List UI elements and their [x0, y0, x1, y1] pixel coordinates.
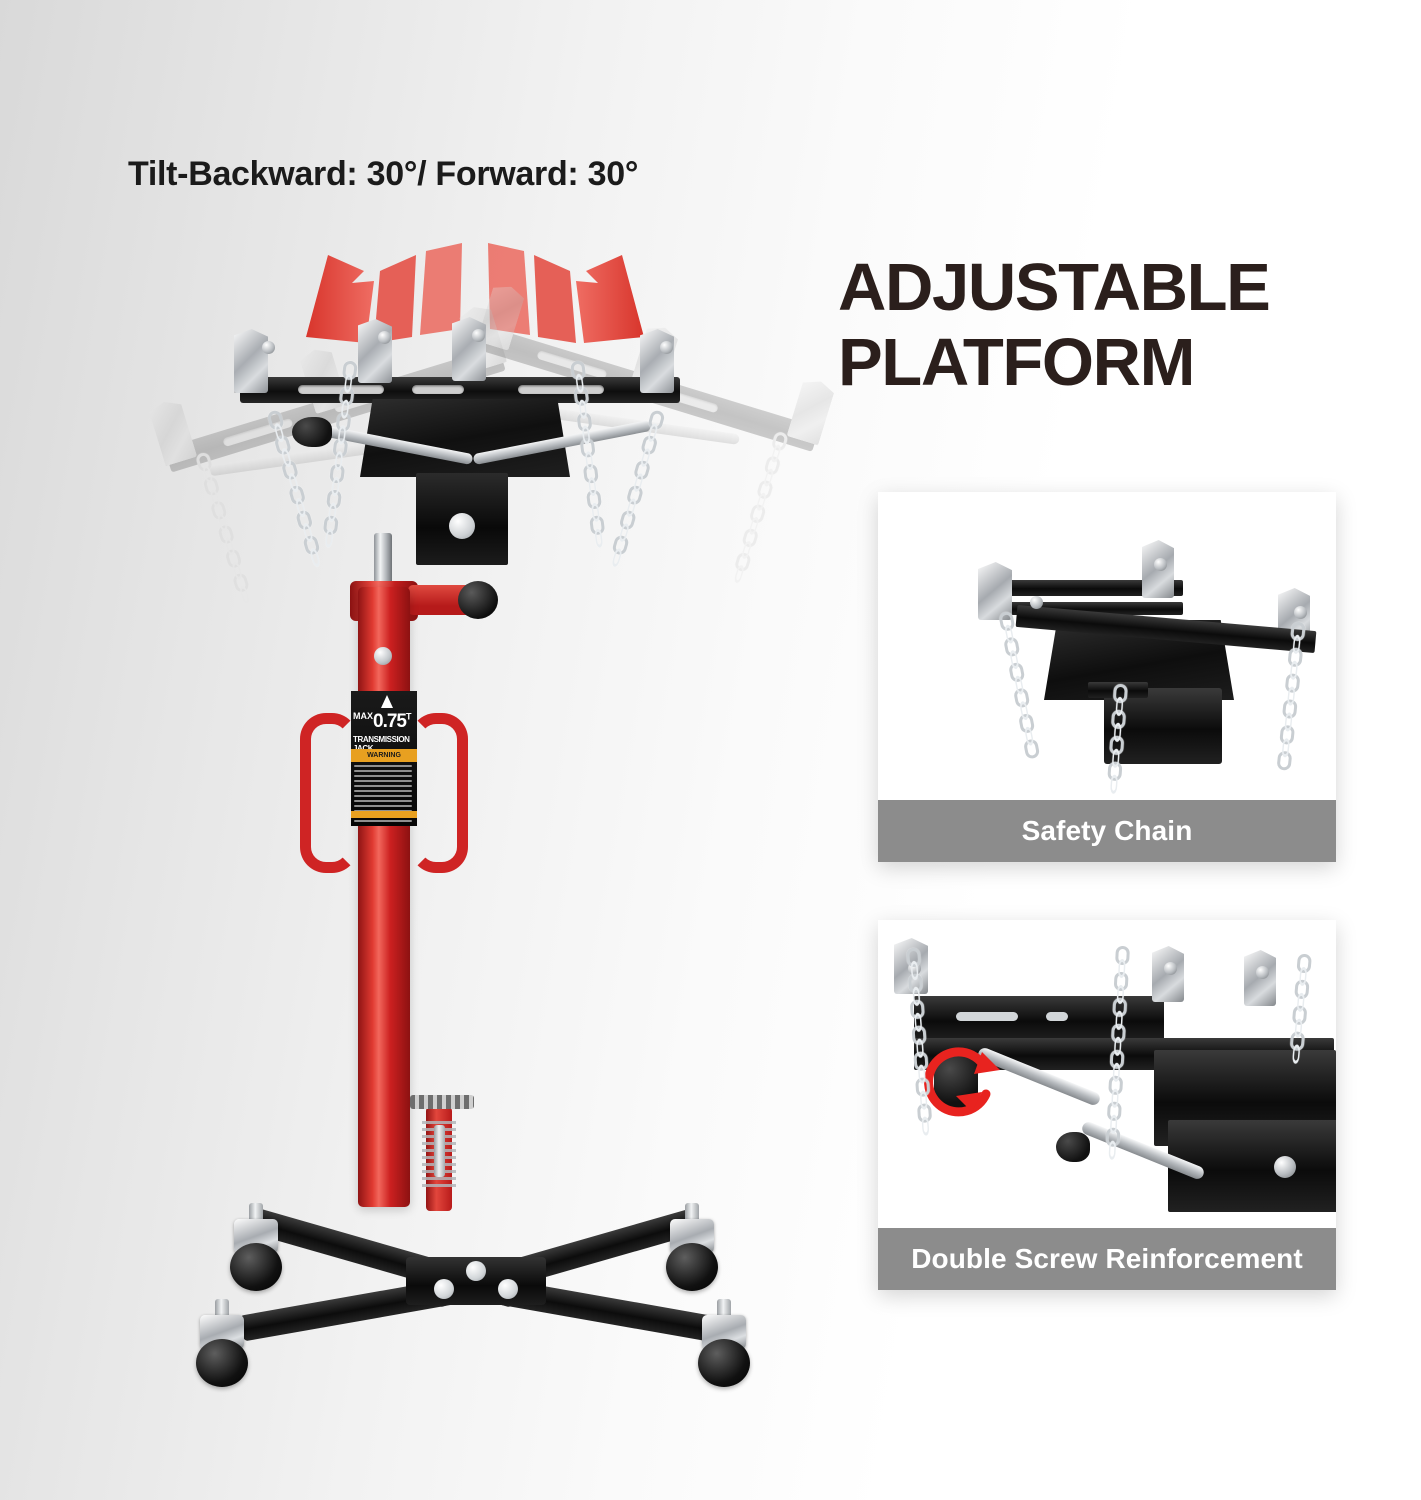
saddle-bracket-right: [640, 329, 674, 393]
label-capacity: 0.75T: [373, 711, 410, 733]
panel-caption-text: Double Screw Reinforcement: [911, 1243, 1303, 1275]
product-illustration: MAX 0.75T TRANSMISSION JACK WARNING: [150, 215, 790, 1445]
saddle-bracket-mid-right: [452, 317, 486, 381]
headline-line-2: PLATFORM: [838, 325, 1398, 400]
jack-column: [358, 587, 410, 1207]
caster-rear-left: [228, 1219, 284, 1293]
panel-caption-bar: Double Screw Reinforcement: [878, 1228, 1336, 1290]
label-bottom-stripe: [351, 811, 417, 818]
panel-caption-text: Safety Chain: [1022, 815, 1193, 847]
capacity-label: MAX 0.75T TRANSMISSION JACK WARNING: [351, 691, 417, 826]
tilt-adjust-knob[interactable]: [292, 417, 332, 447]
wheeled-base: [190, 1175, 750, 1455]
release-valve-knob[interactable]: [408, 585, 484, 615]
up-arrow-icon: [381, 695, 393, 708]
page-title: ADJUSTABLE PLATFORM: [838, 250, 1398, 400]
push-handle-right[interactable]: [410, 713, 468, 873]
panel-caption-bar: Safety Chain: [878, 800, 1336, 862]
feature-panel-safety-chain[interactable]: Safety Chain: [878, 492, 1336, 862]
chain-left: [998, 611, 1039, 754]
caster-front-left: [194, 1315, 250, 1389]
pedal-tread[interactable]: [410, 1095, 474, 1109]
headline-line-1: ADJUSTABLE: [838, 250, 1398, 325]
label-max-text: MAX: [353, 711, 373, 721]
tilt-range-caption: Tilt-Backward: 30°/ Forward: 30°: [128, 155, 638, 194]
saddle-bracket-mid-left: [358, 319, 392, 383]
feature-panel-double-screw[interactable]: Double Screw Reinforcement: [878, 920, 1336, 1290]
screw-pivot: [1056, 1132, 1090, 1162]
push-handle-left[interactable]: [300, 713, 358, 873]
base-center-plate: [406, 1257, 546, 1305]
column-rivet: [374, 647, 392, 665]
label-warning-strip: WARNING: [351, 749, 417, 762]
caster-rear-right: [664, 1219, 720, 1293]
caster-front-right: [696, 1315, 752, 1389]
saddle-hub: [416, 473, 508, 565]
saddle-bracket-left: [234, 329, 268, 393]
adjustable-platform-saddle: [240, 333, 680, 563]
infographic-canvas: Tilt-Backward: 30°/ Forward: 30°: [0, 0, 1421, 1500]
